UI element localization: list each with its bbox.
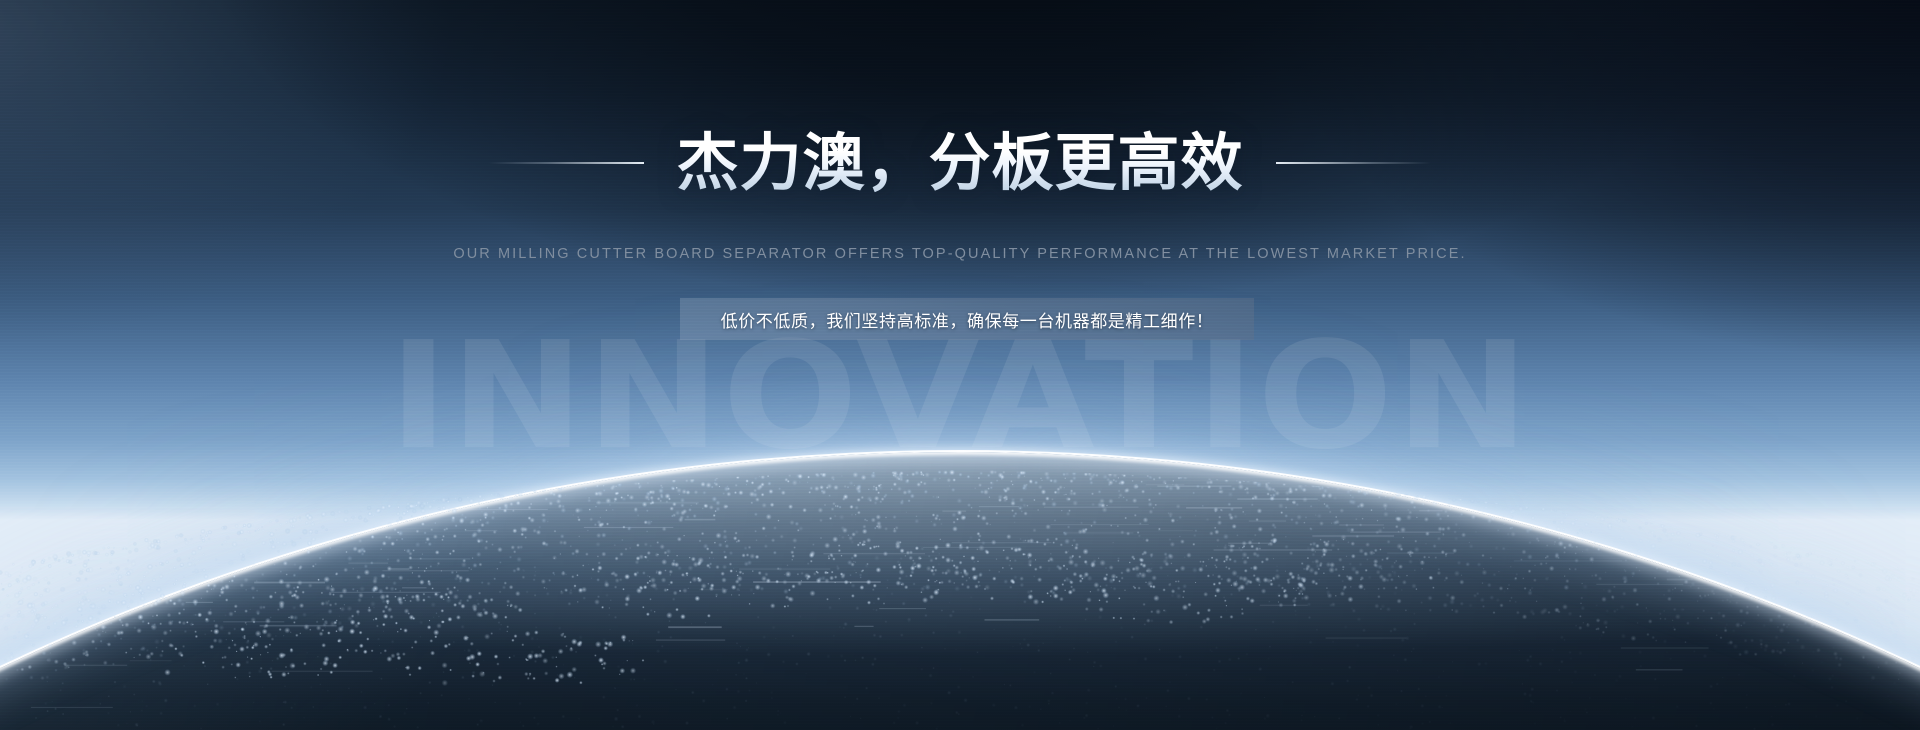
tagline-bar: 低价不低质，我们坚持高标准，确保每一台机器都是精工细作！ [680,298,1254,340]
hero-banner: INNOVATION 杰力澳，分板更高效 OUR MILLING CUTTER … [0,0,1920,730]
subtitle-text: OUR MILLING CUTTER BOARD SEPARATOR OFFER… [0,246,1920,262]
watermark-text: INNOVATION [0,322,1920,470]
tagline-text: 低价不低质，我们坚持高标准，确保每一台机器都是精工细作！ [721,307,1214,332]
headline-row: 杰力澳，分板更高效 [0,128,1920,197]
city-lights-layer [0,452,1920,730]
page-title: 杰力澳，分板更高效 [676,128,1243,197]
decorative-rule-right [1276,162,1431,164]
decorative-rule-left [489,162,644,164]
